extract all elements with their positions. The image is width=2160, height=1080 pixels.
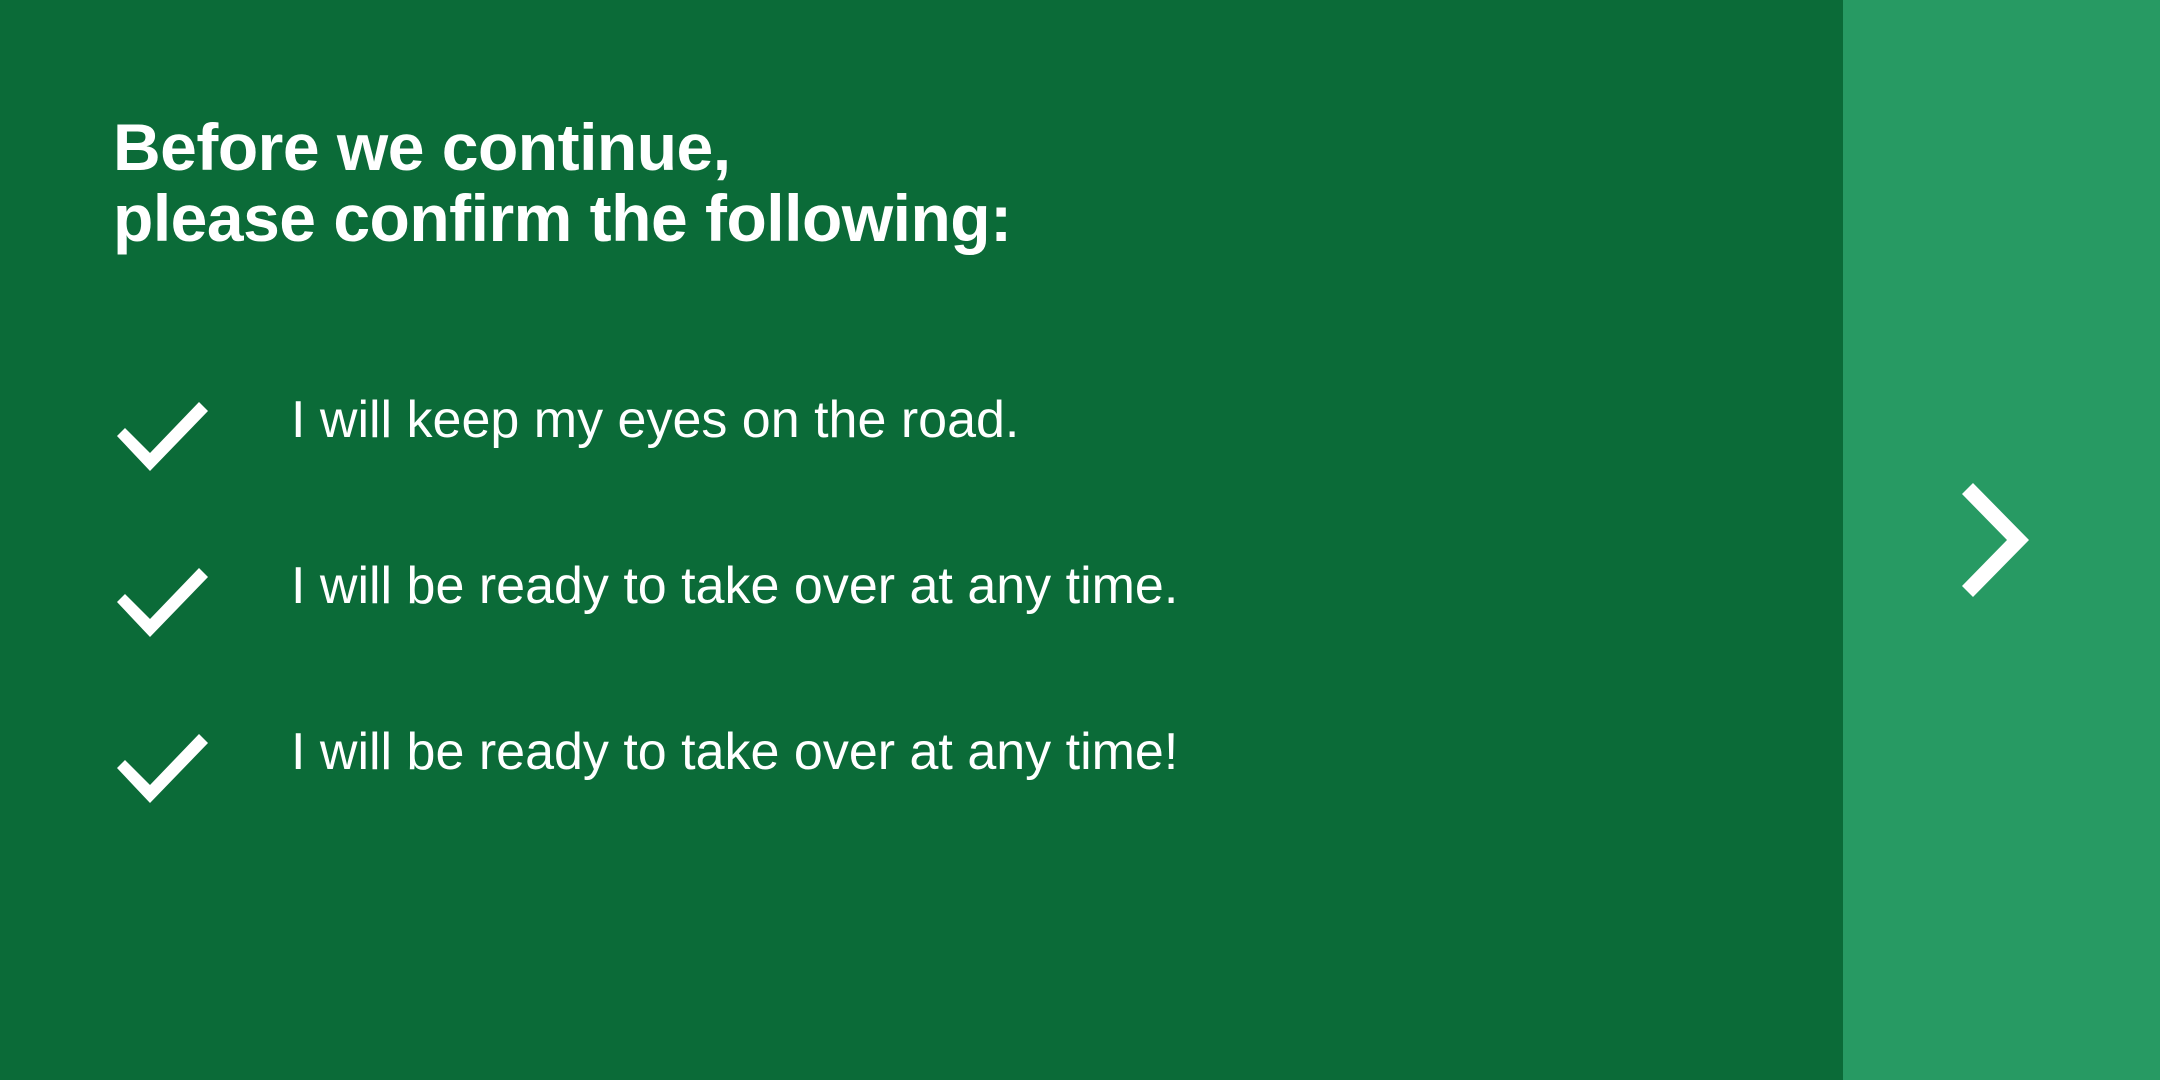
list-item-label: I will be ready to take over at any time… [291, 560, 1178, 612]
main-panel: Before we continue, please confirm the f… [0, 0, 1843, 1080]
list-item[interactable]: I will be ready to take over at any time… [113, 714, 1763, 880]
confirmation-screen: Before we continue, please confirm the f… [0, 0, 2160, 1080]
list-item-label: I will be ready to take over at any time… [291, 726, 1178, 778]
check-icon [113, 554, 291, 646]
next-button[interactable] [1843, 0, 2160, 1080]
confirmation-checklist: I will keep my eyes on the road. I will … [113, 382, 1763, 880]
list-item[interactable]: I will be ready to take over at any time… [113, 548, 1763, 714]
check-icon [113, 388, 291, 480]
chevron-right-icon[interactable] [1947, 475, 2057, 605]
list-item[interactable]: I will keep my eyes on the road. [113, 382, 1763, 548]
page-title: Before we continue, please confirm the f… [113, 112, 1012, 253]
list-item-label: I will keep my eyes on the road. [291, 394, 1019, 446]
check-icon [113, 720, 291, 812]
